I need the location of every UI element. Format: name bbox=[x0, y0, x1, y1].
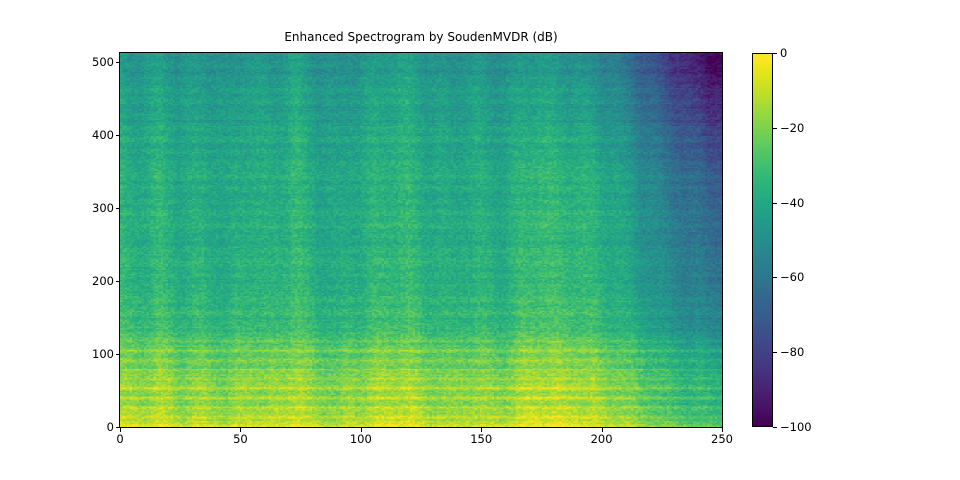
spectrogram-heatmap bbox=[120, 53, 722, 427]
x-tick-mark bbox=[722, 428, 723, 432]
colorbar bbox=[752, 53, 773, 427]
y-tick-mark bbox=[116, 281, 120, 282]
colorbar-tick-mark bbox=[773, 128, 777, 129]
y-axis-tick-labels: 0100200300400500 bbox=[70, 0, 114, 480]
colorbar-tick-label: −20 bbox=[780, 121, 804, 135]
x-tick-mark bbox=[120, 428, 121, 432]
y-tick-mark bbox=[116, 208, 120, 209]
colorbar-tick-mark bbox=[773, 427, 777, 428]
y-tick-mark bbox=[116, 62, 120, 63]
y-tick-label: 100 bbox=[74, 347, 114, 361]
x-tick-label: 200 bbox=[572, 432, 632, 446]
x-tick-mark bbox=[240, 428, 241, 432]
x-tick-label: 100 bbox=[331, 432, 391, 446]
colorbar-tick-label: −100 bbox=[780, 420, 812, 434]
y-tick-mark bbox=[116, 354, 120, 355]
y-tick-label: 500 bbox=[74, 55, 114, 69]
x-tick-mark bbox=[481, 428, 482, 432]
page-title: Enhanced Spectrogram by SoudenMVDR (dB) bbox=[120, 30, 722, 44]
colorbar-tick-mark bbox=[773, 203, 777, 204]
x-tick-mark bbox=[361, 428, 362, 432]
colorbar-tick-mark bbox=[773, 352, 777, 353]
y-tick-label: 0 bbox=[74, 420, 114, 434]
y-tick-label: 200 bbox=[74, 274, 114, 288]
colorbar-tick-mark bbox=[773, 53, 777, 54]
colorbar-tick-label: −40 bbox=[780, 196, 804, 210]
colorbar-tick-mark bbox=[773, 277, 777, 278]
y-tick-mark bbox=[116, 135, 120, 136]
x-tick-label: 50 bbox=[210, 432, 270, 446]
x-tick-mark bbox=[602, 428, 603, 432]
y-tick-label: 300 bbox=[74, 201, 114, 215]
spectrogram-axes bbox=[119, 52, 723, 428]
colorbar-tick-label: −60 bbox=[780, 270, 804, 284]
colorbar-tick-label: 0 bbox=[780, 46, 787, 60]
x-tick-label: 150 bbox=[451, 432, 511, 446]
colorbar-gradient bbox=[752, 53, 773, 427]
matplotlib-figure: Enhanced Spectrogram by SoudenMVDR (dB) … bbox=[0, 0, 960, 480]
y-tick-label: 400 bbox=[74, 128, 114, 142]
x-tick-label: 250 bbox=[692, 432, 752, 446]
colorbar-tick-label: −80 bbox=[780, 345, 804, 359]
